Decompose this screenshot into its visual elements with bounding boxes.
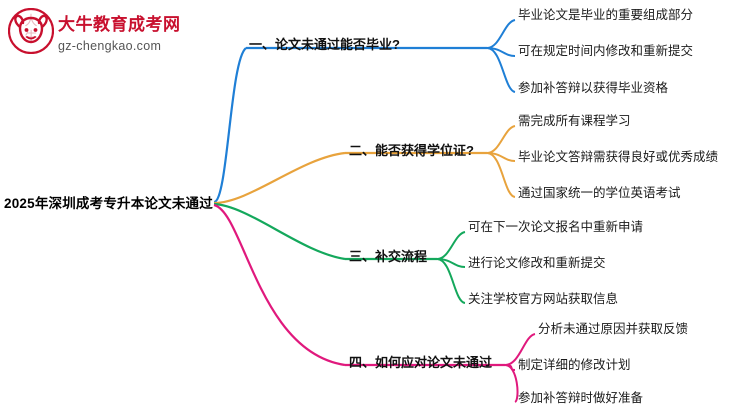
mindmap-branch-4[interactable]: 四、如何应对论文未通过 bbox=[349, 355, 492, 371]
mindmap-leaf-1-2[interactable]: 可在规定时间内修改和重新提交 bbox=[518, 44, 693, 59]
mindmap-leaf-2-3[interactable]: 通过国家统一的学位英语考试 bbox=[518, 186, 681, 201]
mindmap-leaf-1-1[interactable]: 毕业论文是毕业的重要组成部分 bbox=[518, 8, 693, 23]
mindmap-leaf-1-3[interactable]: 参加补答辩以获得毕业资格 bbox=[518, 81, 668, 96]
svg-text:大: 大 bbox=[24, 13, 37, 28]
mindmap-leaf-3-2[interactable]: 进行论文修改和重新提交 bbox=[468, 256, 606, 271]
ox-head-logo-icon: 大 牛 bbox=[8, 8, 54, 54]
mindmap-branch-2[interactable]: 二、能否获得学位证? bbox=[349, 143, 474, 159]
mindmap-leaf-3-3[interactable]: 关注学校官方网站获取信息 bbox=[468, 292, 618, 307]
mindmap-branch-3[interactable]: 三、补交流程 bbox=[349, 249, 427, 265]
mindmap-leaf-2-2[interactable]: 毕业论文答辩需获得良好或优秀成绩 bbox=[518, 150, 718, 165]
mindmap-leaf-4-1[interactable]: 分析未通过原因并获取反馈 bbox=[538, 322, 688, 337]
mindmap-leaf-4-3[interactable]: 参加补答辩时做好准备 bbox=[518, 391, 643, 406]
mindmap-leaf-2-1[interactable]: 需完成所有课程学习 bbox=[518, 114, 631, 129]
mindmap-root-node[interactable]: 2025年深圳成考专升本论文未通过 bbox=[4, 196, 213, 212]
mindmap-leaf-4-2[interactable]: 制定详细的修改计划 bbox=[518, 358, 631, 373]
site-logo: 大 牛 大牛教育成考网 gz-chengkao.com bbox=[8, 8, 198, 56]
logo-title: 大牛教育成考网 bbox=[58, 10, 181, 35]
mindmap-branch-1[interactable]: 一、论文未通过能否毕业? bbox=[249, 37, 400, 53]
mindmap-leaf-3-1[interactable]: 可在下一次论文报名中重新申请 bbox=[468, 220, 643, 235]
mindmap-diagram: 大 牛 大牛教育成考网 gz-chengkao.com bbox=[0, 0, 750, 410]
logo-subtitle: gz-chengkao.com bbox=[58, 39, 181, 53]
